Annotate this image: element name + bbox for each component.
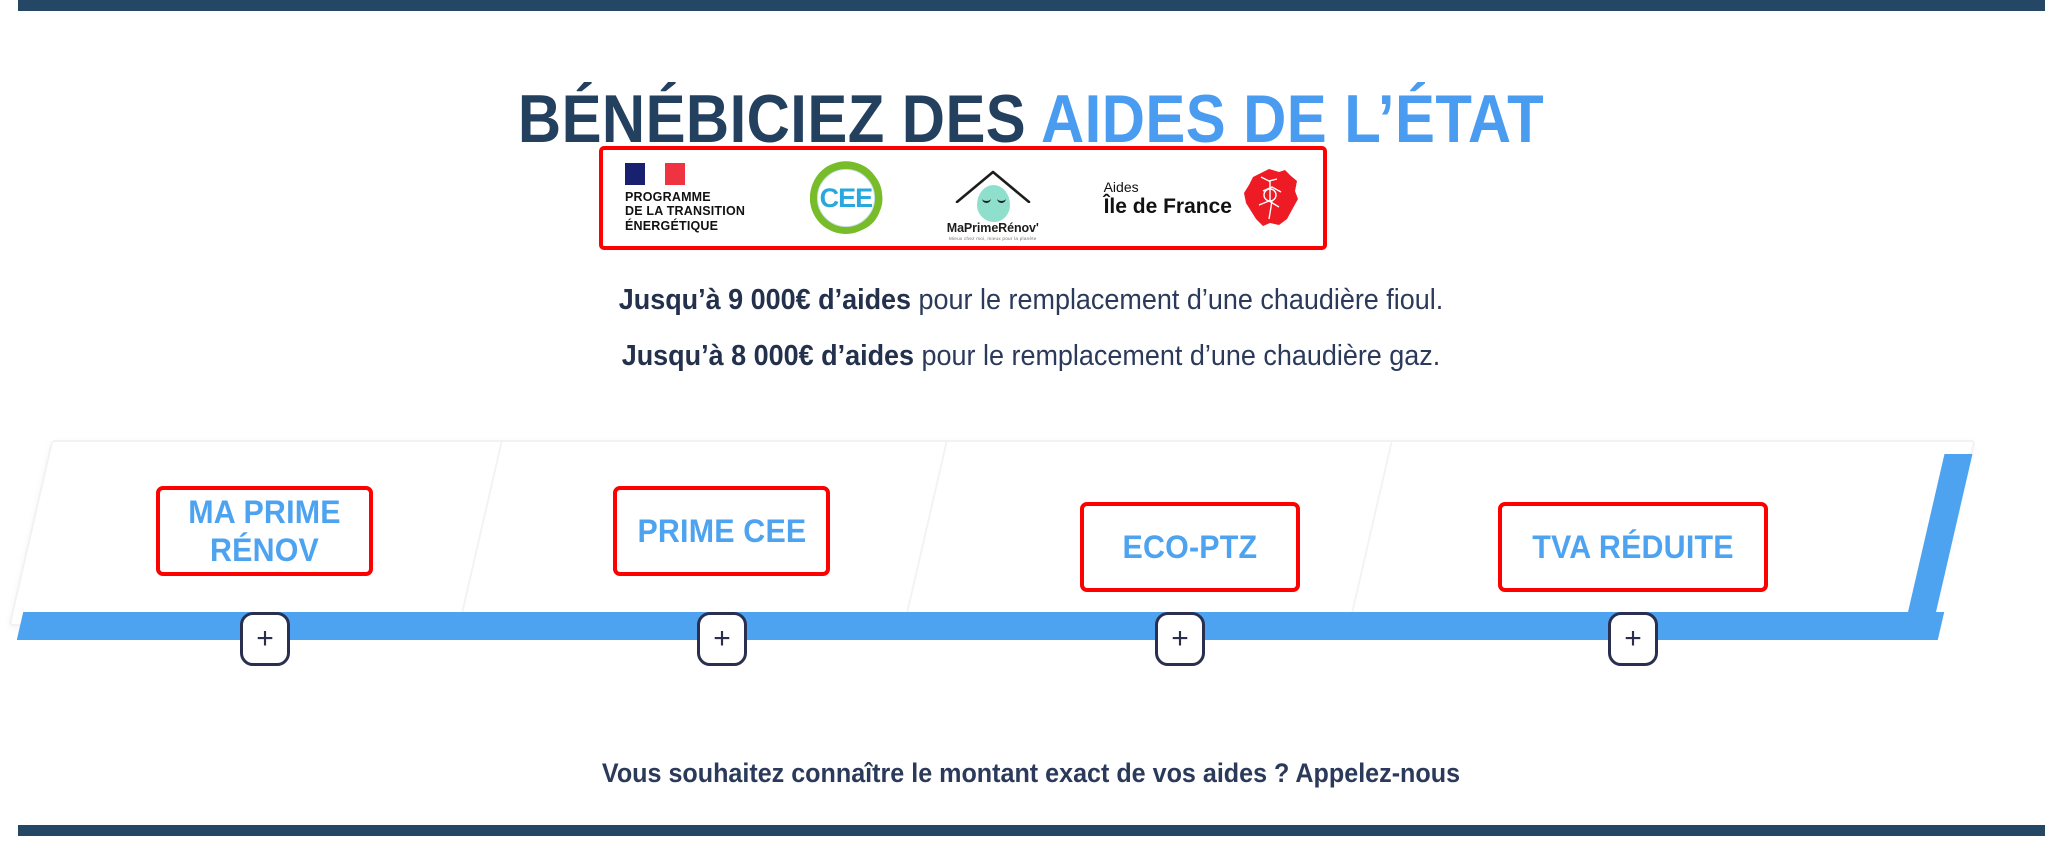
aid-card-label: MA PRIME RÉNOV [165,493,364,569]
logo-programme-line3: ÉNERGÉTIQUE [625,219,745,234]
logo-programme-line1: PROGRAMME [625,190,745,205]
plus-icon: + [256,624,274,654]
footer-cta-text: Vous souhaitez connaître le montant exac… [72,758,1990,789]
logo-idf-text: Aides Île de France [1104,179,1232,218]
aid-card-label: TVA RÉDUITE [1532,528,1733,566]
aids-panel: MA PRIME RÉNOV + PRIME CEE + ECO-PTZ + T… [0,440,2062,670]
maprimerenov-house-icon [954,169,1032,219]
plus-icon: + [1624,624,1642,654]
page-title: BÉNÉBICIEZ DES AIDES DE L’ÉTAT [124,82,1939,156]
promo-line-fioul: Jusqu’à 9 000€ d’aides pour le remplacem… [72,284,1990,317]
promo-line-fioul-amount: Jusqu’à 9 000€ d’aides [619,284,911,316]
aid-toggle-eco-ptz[interactable]: + [1155,612,1205,666]
cee-badge-icon: CEE [810,162,882,234]
aid-card-eco-ptz[interactable]: ECO-PTZ [1080,502,1300,592]
logo-programme-transition-energetique: PROGRAMME DE LA TRANSITION ÉNERGÉTIQUE [625,155,745,241]
ile-de-france-map-icon [1239,167,1301,229]
aid-card-tva-reduite[interactable]: TVA RÉDUITE [1498,502,1768,592]
aid-toggle-prime-cee[interactable]: + [697,612,747,666]
promo-line-gaz-text: pour le remplacement d’une chaudière gaz… [914,340,1440,372]
plus-icon: + [1171,624,1189,654]
logo-cee: CEE [810,155,882,241]
logo-idf-line1: Aides [1104,179,1232,195]
partner-logo-strip: PROGRAMME DE LA TRANSITION ÉNERGÉTIQUE C… [599,146,1327,250]
aid-toggle-ma-prime-renov[interactable]: + [240,612,290,666]
french-flag-icon [625,163,685,185]
logo-idf-line2: Île de France [1104,195,1232,218]
logo-maprimerenov-tagline: Mieux chez moi, mieux pour la planète [949,236,1037,241]
promo-line-gaz-amount: Jusqu’à 8 000€ d’aides [622,340,914,372]
logo-programme-text: PROGRAMME DE LA TRANSITION ÉNERGÉTIQUE [625,190,745,234]
promo-line-gaz: Jusqu’à 8 000€ d’aides pour le remplacem… [72,340,1990,373]
logo-aides-ile-de-france: Aides Île de France [1104,155,1301,241]
logo-programme-line2: DE LA TRANSITION [625,204,745,219]
aid-card-ma-prime-renov[interactable]: MA PRIME RÉNOV [156,486,373,576]
bottom-rule [18,825,2045,836]
aid-toggle-tva-reduite[interactable]: + [1608,612,1658,666]
promo-line-fioul-text: pour le remplacement d’une chaudière fio… [911,284,1443,316]
aid-card-label: ECO-PTZ [1123,528,1258,566]
top-rule [18,0,2045,11]
logo-maprimerenov: MaPrimeRénov' Mieux chez moi, mieux pour… [947,155,1039,241]
logo-cee-label: CEE [820,185,873,212]
aid-card-label: PRIME CEE [637,512,806,550]
logo-maprimerenov-name: MaPrimeRénov' [947,221,1039,235]
plus-icon: + [713,624,731,654]
aid-card-prime-cee[interactable]: PRIME CEE [613,486,830,576]
